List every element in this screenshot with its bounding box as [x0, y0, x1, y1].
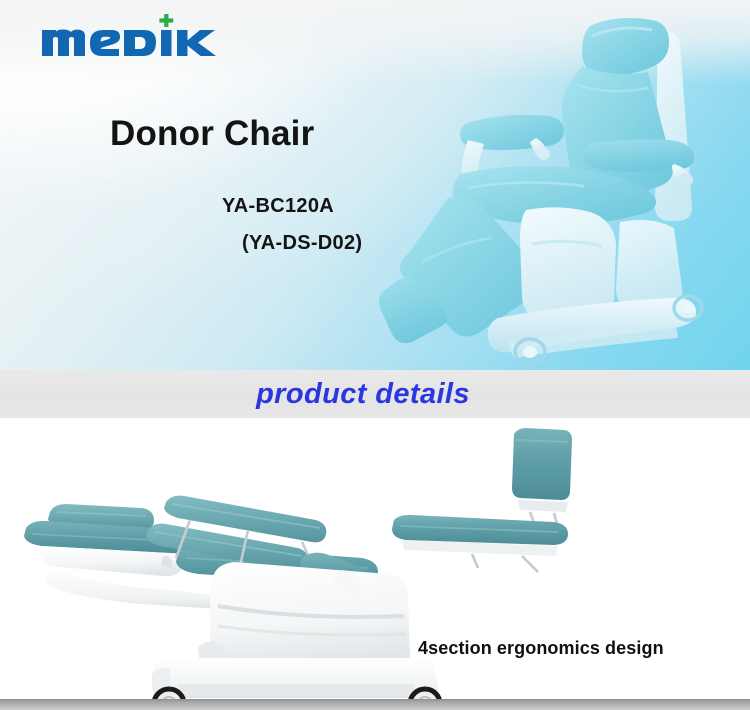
floor-strip — [0, 699, 750, 710]
product-page: Donor Chair YA-BC120A (YA-DS-D02) — [0, 0, 750, 710]
section-divider-band: product details — [0, 370, 750, 418]
detail-product-image — [2, 418, 602, 704]
section-title: product details — [256, 378, 470, 411]
model-code: YA-BC120A — [222, 195, 334, 218]
feature-caption: 4section ergonomics design — [418, 638, 664, 659]
donor-chair-reclined-illustration — [376, 12, 750, 370]
green-plus-icon — [159, 14, 173, 27]
model-code-alt: (YA-DS-D02) — [242, 232, 362, 255]
brand-logo[interactable] — [40, 14, 240, 58]
detail-section — [0, 418, 750, 710]
page-title: Donor Chair — [110, 114, 314, 154]
donor-chair-flat-illustration — [2, 418, 602, 704]
hero-banner: Donor Chair YA-BC120A (YA-DS-D02) — [0, 0, 750, 370]
hero-product-image — [376, 12, 750, 370]
medik-logo-icon — [40, 12, 240, 58]
